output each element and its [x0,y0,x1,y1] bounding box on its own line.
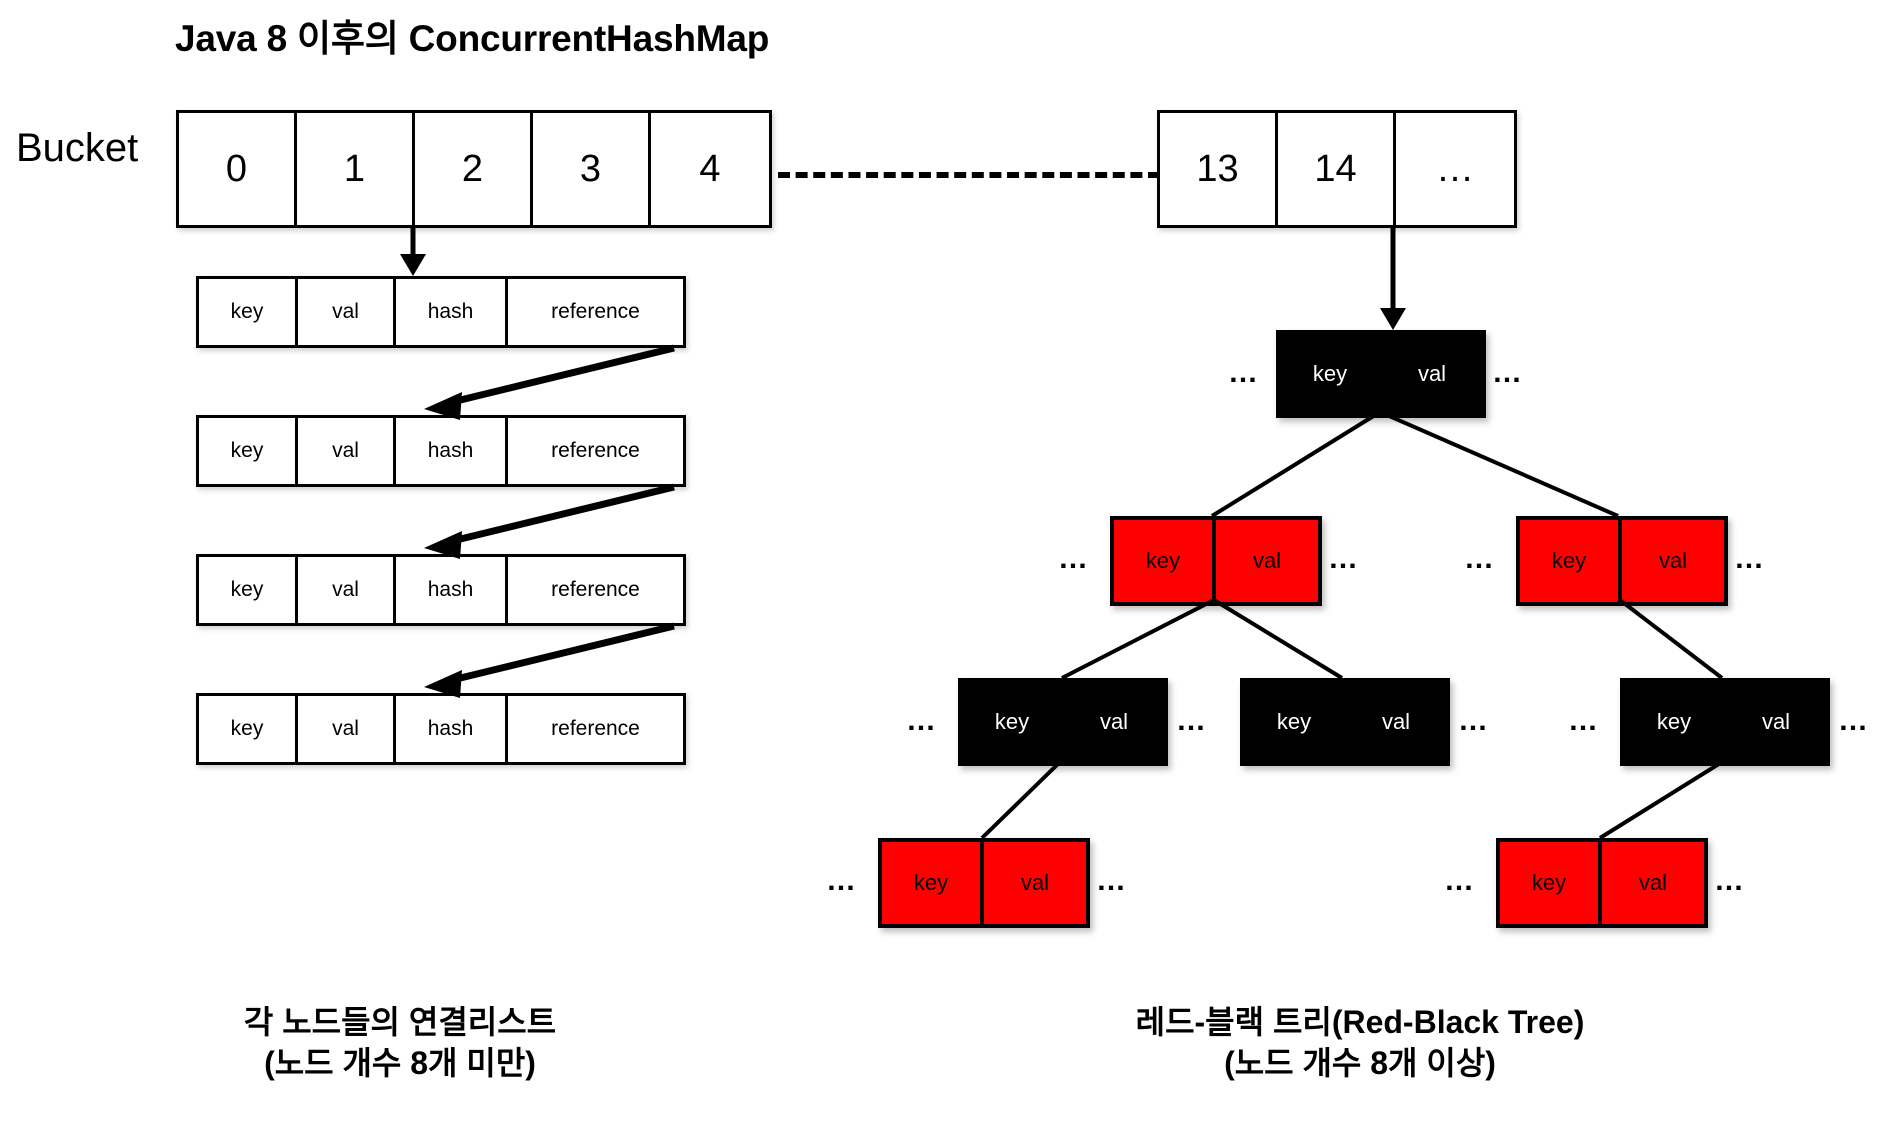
tree-node-r3-left-ellipsis: … [1444,866,1477,896]
tree-node-l2a-val: val [1063,681,1165,763]
arrow-list-2-to-3 [424,487,674,559]
tree-node-r2-left-ellipsis: … [1568,706,1601,736]
arrow-bucket14-to-tree [1380,226,1406,330]
list-node-2-reference: reference [508,418,683,484]
tree-node-l2a-left-ellipsis: … [906,706,939,736]
tree-node-l2b: key val [1240,678,1450,766]
tree-node-r2-val: val [1725,681,1827,763]
list-node-4: key val hash reference [196,693,686,765]
tree-node-r2-right-ellipsis: … [1838,706,1871,736]
diagram-canvas: Java 8 이후의 ConcurrentHashMap Bucket 0 1 … [0,0,1878,1122]
bucket-array-right: 13 14 … [1157,110,1517,228]
tree-edge-r2-r3 [1600,762,1722,838]
bucket-cell-4[interactable]: 4 [651,113,769,225]
tree-node-l2a-right-ellipsis: … [1176,706,1209,736]
list-node-2: key val hash reference [196,415,686,487]
bucket-cell-0[interactable]: 0 [179,113,297,225]
list-node-4-reference: reference [508,696,683,762]
list-node-3: key val hash reference [196,554,686,626]
bucket-cell-13[interactable]: 13 [1160,113,1278,225]
tree-node-r3-right-ellipsis: … [1714,866,1747,896]
tree-node-l1-key: key [1114,520,1216,602]
tree-edge-l2a-l3 [982,762,1060,838]
list-node-1: key val hash reference [196,276,686,348]
tree-node-r2-key: key [1623,681,1725,763]
arrow-bucket1-to-list [400,226,426,276]
list-node-4-val: val [298,696,396,762]
list-node-3-hash: hash [396,557,508,623]
tree-node-r3-val: val [1602,842,1704,924]
caption-red-black-tree: 레드-블랙 트리(Red-Black Tree) (노드 개수 8개 이상) [1050,1002,1670,1084]
tree-edge-root-r1 [1380,412,1618,516]
tree-node-l3-val: val [984,842,1086,924]
list-node-3-reference: reference [508,557,683,623]
list-node-2-hash: hash [396,418,508,484]
tree-node-r1-right-ellipsis: … [1734,544,1767,574]
caption-red-black-tree-line2: (노드 개수 8개 이상) [1050,1043,1670,1084]
bucket-cell-3[interactable]: 3 [533,113,651,225]
caption-red-black-tree-line1: 레드-블랙 트리(Red-Black Tree) [1050,1002,1670,1043]
bucket-cell-more[interactable]: … [1396,113,1514,225]
caption-linked-list-line1: 각 노드들의 연결리스트 [150,1002,650,1043]
tree-node-root-val: val [1381,333,1483,415]
tree-node-l3-key: key [882,842,984,924]
tree-edge-root-l1 [1212,412,1380,516]
tree-node-l1-right-ellipsis: … [1328,544,1361,574]
tree-node-root-key: key [1279,333,1381,415]
tree-node-r1-key: key [1520,520,1622,602]
tree-node-r1-left-ellipsis: … [1464,544,1497,574]
tree-node-r1-val: val [1622,520,1724,602]
tree-node-l3-right-ellipsis: … [1096,866,1129,896]
list-node-1-key: key [199,279,298,345]
tree-edge-l1-l2b [1214,600,1342,678]
list-node-2-val: val [298,418,396,484]
tree-edge-r1-r2 [1620,600,1722,678]
tree-node-r2: key val [1620,678,1830,766]
tree-node-root-right-ellipsis: … [1492,358,1525,388]
caption-linked-list-line2: (노드 개수 8개 미만) [150,1043,650,1084]
tree-node-l3-left-ellipsis: … [826,866,859,896]
arrow-list-3-to-4 [424,626,674,698]
tree-node-root: key val [1276,330,1486,418]
list-node-3-val: val [298,557,396,623]
list-node-2-key: key [199,418,298,484]
tree-node-l2b-right-ellipsis: … [1458,706,1491,736]
tree-edge-l1-l2a [1062,600,1214,678]
list-node-1-hash: hash [396,279,508,345]
caption-linked-list: 각 노드들의 연결리스트 (노드 개수 8개 미만) [150,1002,650,1084]
tree-node-root-left-ellipsis: … [1228,358,1261,388]
list-node-1-reference: reference [508,279,683,345]
bucket-array-left: 0 1 2 3 4 [176,110,772,228]
tree-node-l1-left-ellipsis: … [1058,544,1091,574]
list-node-1-val: val [298,279,396,345]
tree-node-l2b-key: key [1243,681,1345,763]
tree-node-l2a-key: key [961,681,1063,763]
bucket-cell-14[interactable]: 14 [1278,113,1396,225]
bucket-label: Bucket [16,126,138,171]
bucket-cell-1[interactable]: 1 [297,113,415,225]
tree-node-r3: key val [1496,838,1708,928]
tree-node-l1: key val [1110,516,1322,606]
page-title: Java 8 이후의 ConcurrentHashMap [175,8,769,62]
tree-node-r1: key val [1516,516,1728,606]
arrow-list-1-to-2 [424,348,674,420]
tree-node-l3: key val [878,838,1090,928]
list-node-3-key: key [199,557,298,623]
list-node-4-key: key [199,696,298,762]
list-node-4-hash: hash [396,696,508,762]
bucket-cell-2[interactable]: 2 [415,113,533,225]
bucket-dashed-connector [778,172,1160,178]
tree-node-l2b-val: val [1345,681,1447,763]
tree-node-l1-val: val [1216,520,1318,602]
tree-node-r3-key: key [1500,842,1602,924]
tree-node-l2a: key val [958,678,1168,766]
